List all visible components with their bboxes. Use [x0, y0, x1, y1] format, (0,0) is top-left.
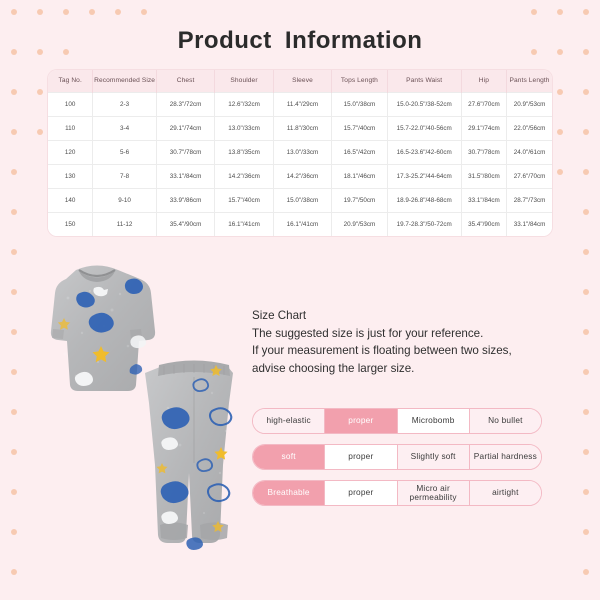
- table-cell-r3-c4: 14.2"/36cm: [273, 164, 331, 188]
- table-cell-r0-c2: 28.3"/72cm: [156, 92, 214, 116]
- table-cell-r0-c0: 100: [48, 92, 93, 116]
- table-cell-r2-c5: 16.5"/42cm: [332, 140, 387, 164]
- table-cell-r4-c7: 33.1"/84cm: [461, 188, 506, 212]
- table-cell-r4-c8: 28.7"/73cm: [507, 188, 552, 212]
- table-cell-r5-c7: 35.4"/90cm: [461, 212, 506, 236]
- size-chart-line-1: The suggested size is just for your refe…: [252, 325, 582, 343]
- attribute-segment-softness-3[interactable]: Partial hardness: [470, 445, 541, 469]
- size-chart-line-2: If your measurement is floating between …: [252, 342, 582, 360]
- table-cell-r1-c0: 110: [48, 116, 93, 140]
- table-cell-r2-c3: 13.8"/35cm: [215, 140, 273, 164]
- table-cell-r0-c5: 15.0"/38cm: [332, 92, 387, 116]
- page-title: Product Information: [0, 27, 600, 55]
- attribute-row-softness: softproperSlightly softPartial hardness: [252, 444, 542, 470]
- attribute-segment-softness-1[interactable]: proper: [325, 445, 397, 469]
- table-row: 1307-833.1"/84cm14.2"/36cm14.2"/36cm18.1…: [48, 164, 552, 188]
- attribute-segment-elasticity-3[interactable]: No bullet: [470, 409, 541, 433]
- table-cell-r0-c1: 2-3: [93, 92, 157, 116]
- table-cell-r4-c4: 15.0"/38cm: [273, 188, 331, 212]
- table-cell-r4-c6: 18.9-26.8"/48-68cm: [387, 188, 461, 212]
- table-row: 1002-328.3"/72cm12.6"/32cm11.4"/29cm15.0…: [48, 92, 552, 116]
- table-cell-r5-c4: 16.1"/41cm: [273, 212, 331, 236]
- table-cell-r4-c5: 19.7"/50cm: [332, 188, 387, 212]
- attribute-segment-elasticity-2[interactable]: Microbomb: [398, 409, 470, 433]
- table-cell-r1-c1: 3-4: [93, 116, 157, 140]
- table-cell-r5-c0: 150: [48, 212, 93, 236]
- table-cell-r0-c6: 15.0-20.5"/38-52cm: [387, 92, 461, 116]
- table-cell-r3-c2: 33.1"/84cm: [156, 164, 214, 188]
- table-cell-r4-c0: 140: [48, 188, 93, 212]
- attribute-segment-breathability-1[interactable]: proper: [325, 481, 397, 505]
- table-cell-r2-c7: 30.7"/78cm: [461, 140, 506, 164]
- table-cell-r0-c3: 12.6"/32cm: [215, 92, 273, 116]
- table-cell-r1-c2: 29.1"/74cm: [156, 116, 214, 140]
- size-chart-note: Size Chart The suggested size is just fo…: [252, 307, 582, 377]
- table-cell-r4-c3: 15.7"/40cm: [215, 188, 273, 212]
- table-row: 15011-1235.4"/90cm16.1"/41cm16.1"/41cm20…: [48, 212, 552, 236]
- table-cell-r2-c8: 24.0"/61cm: [507, 140, 552, 164]
- table-cell-r2-c4: 13.0"/33cm: [273, 140, 331, 164]
- attribute-segment-elasticity-1[interactable]: proper: [325, 409, 397, 433]
- table-cell-r3-c5: 18.1"/46cm: [332, 164, 387, 188]
- table-cell-r5-c1: 11-12: [93, 212, 157, 236]
- table-cell-r1-c7: 29.1"/74cm: [461, 116, 506, 140]
- table-cell-r3-c3: 14.2"/36cm: [215, 164, 273, 188]
- table-cell-r0-c4: 11.4"/29cm: [273, 92, 331, 116]
- product-photo-pajama-pants: [134, 353, 254, 551]
- attribute-scale-group: high-elasticproperMicrobombNo bulletsoft…: [252, 408, 542, 516]
- table-cell-r1-c5: 15.7"/40cm: [332, 116, 387, 140]
- table-cell-r0-c7: 27.6"/70cm: [461, 92, 506, 116]
- table-cell-r1-c6: 15.7-22.0"/40-56cm: [387, 116, 461, 140]
- size-table: Tag No.Recommended SizeChestShoulderSlee…: [48, 70, 552, 236]
- table-cell-r2-c1: 5-6: [93, 140, 157, 164]
- table-row: 1409-1033.9"/86cm15.7"/40cm15.0"/38cm19.…: [48, 188, 552, 212]
- table-cell-r2-c6: 16.5-23.6"/42-60cm: [387, 140, 461, 164]
- attribute-segment-softness-0[interactable]: soft: [253, 445, 325, 469]
- attribute-segment-elasticity-0[interactable]: high-elastic: [253, 409, 325, 433]
- attribute-row-breathability: BreathableproperMicro air permeabilityai…: [252, 480, 542, 506]
- table-cell-r5-c8: 33.1"/84cm: [507, 212, 552, 236]
- table-row: 1103-429.1"/74cm13.0"/33cm11.8"/30cm15.7…: [48, 116, 552, 140]
- table-cell-r5-c3: 16.1"/41cm: [215, 212, 273, 236]
- column-header-7: Hip: [461, 70, 506, 92]
- table-cell-r3-c8: 27.6"/70cm: [507, 164, 552, 188]
- product-information-page: Product Information Tag No.Recommended S…: [0, 0, 600, 600]
- column-header-1: Recommended Size: [93, 70, 157, 92]
- attribute-row-elasticity: high-elasticproperMicrobombNo bullet: [252, 408, 542, 434]
- column-header-3: Shoulder: [215, 70, 273, 92]
- size-chart-heading: Size Chart: [252, 307, 582, 325]
- table-cell-r3-c6: 17.3-25.2"/44-64cm: [387, 164, 461, 188]
- table-cell-r5-c5: 20.9"/53cm: [332, 212, 387, 236]
- attribute-segment-breathability-0[interactable]: Breathable: [253, 481, 325, 505]
- column-header-8: Pants Length: [507, 70, 552, 92]
- table-cell-r1-c4: 11.8"/30cm: [273, 116, 331, 140]
- size-chart-line-3: advise choosing the larger size.: [252, 360, 582, 378]
- table-cell-r2-c2: 30.7"/78cm: [156, 140, 214, 164]
- table-cell-r4-c1: 9-10: [93, 188, 157, 212]
- attribute-segment-softness-2[interactable]: Slightly soft: [398, 445, 470, 469]
- table-cell-r5-c6: 19.7-28.3"/50-72cm: [387, 212, 461, 236]
- table-cell-r1-c8: 22.0"/56cm: [507, 116, 552, 140]
- column-header-2: Chest: [156, 70, 214, 92]
- column-header-4: Sleeve: [273, 70, 331, 92]
- table-header-row: Tag No.Recommended SizeChestShoulderSlee…: [48, 70, 552, 92]
- column-header-6: Pants Waist: [387, 70, 461, 92]
- table-cell-r2-c0: 120: [48, 140, 93, 164]
- size-table-container: Tag No.Recommended SizeChestShoulderSlee…: [48, 70, 552, 236]
- table-cell-r1-c3: 13.0"/33cm: [215, 116, 273, 140]
- table-row: 1205-630.7"/78cm13.8"/35cm13.0"/33cm16.5…: [48, 140, 552, 164]
- product-photo-group: [22, 248, 254, 558]
- table-cell-r3-c7: 31.5"/80cm: [461, 164, 506, 188]
- table-cell-r3-c0: 130: [48, 164, 93, 188]
- table-cell-r3-c1: 7-8: [93, 164, 157, 188]
- attribute-segment-breathability-3[interactable]: airtight: [470, 481, 541, 505]
- table-cell-r4-c2: 33.9"/86cm: [156, 188, 214, 212]
- column-header-0: Tag No.: [48, 70, 93, 92]
- size-table-body: 1002-328.3"/72cm12.6"/32cm11.4"/29cm15.0…: [48, 92, 552, 236]
- attribute-segment-breathability-2[interactable]: Micro air permeability: [398, 481, 470, 505]
- column-header-5: Tops Length: [332, 70, 387, 92]
- table-cell-r0-c8: 20.9"/53cm: [507, 92, 552, 116]
- table-cell-r5-c2: 35.4"/90cm: [156, 212, 214, 236]
- size-table-header: Tag No.Recommended SizeChestShoulderSlee…: [48, 70, 552, 92]
